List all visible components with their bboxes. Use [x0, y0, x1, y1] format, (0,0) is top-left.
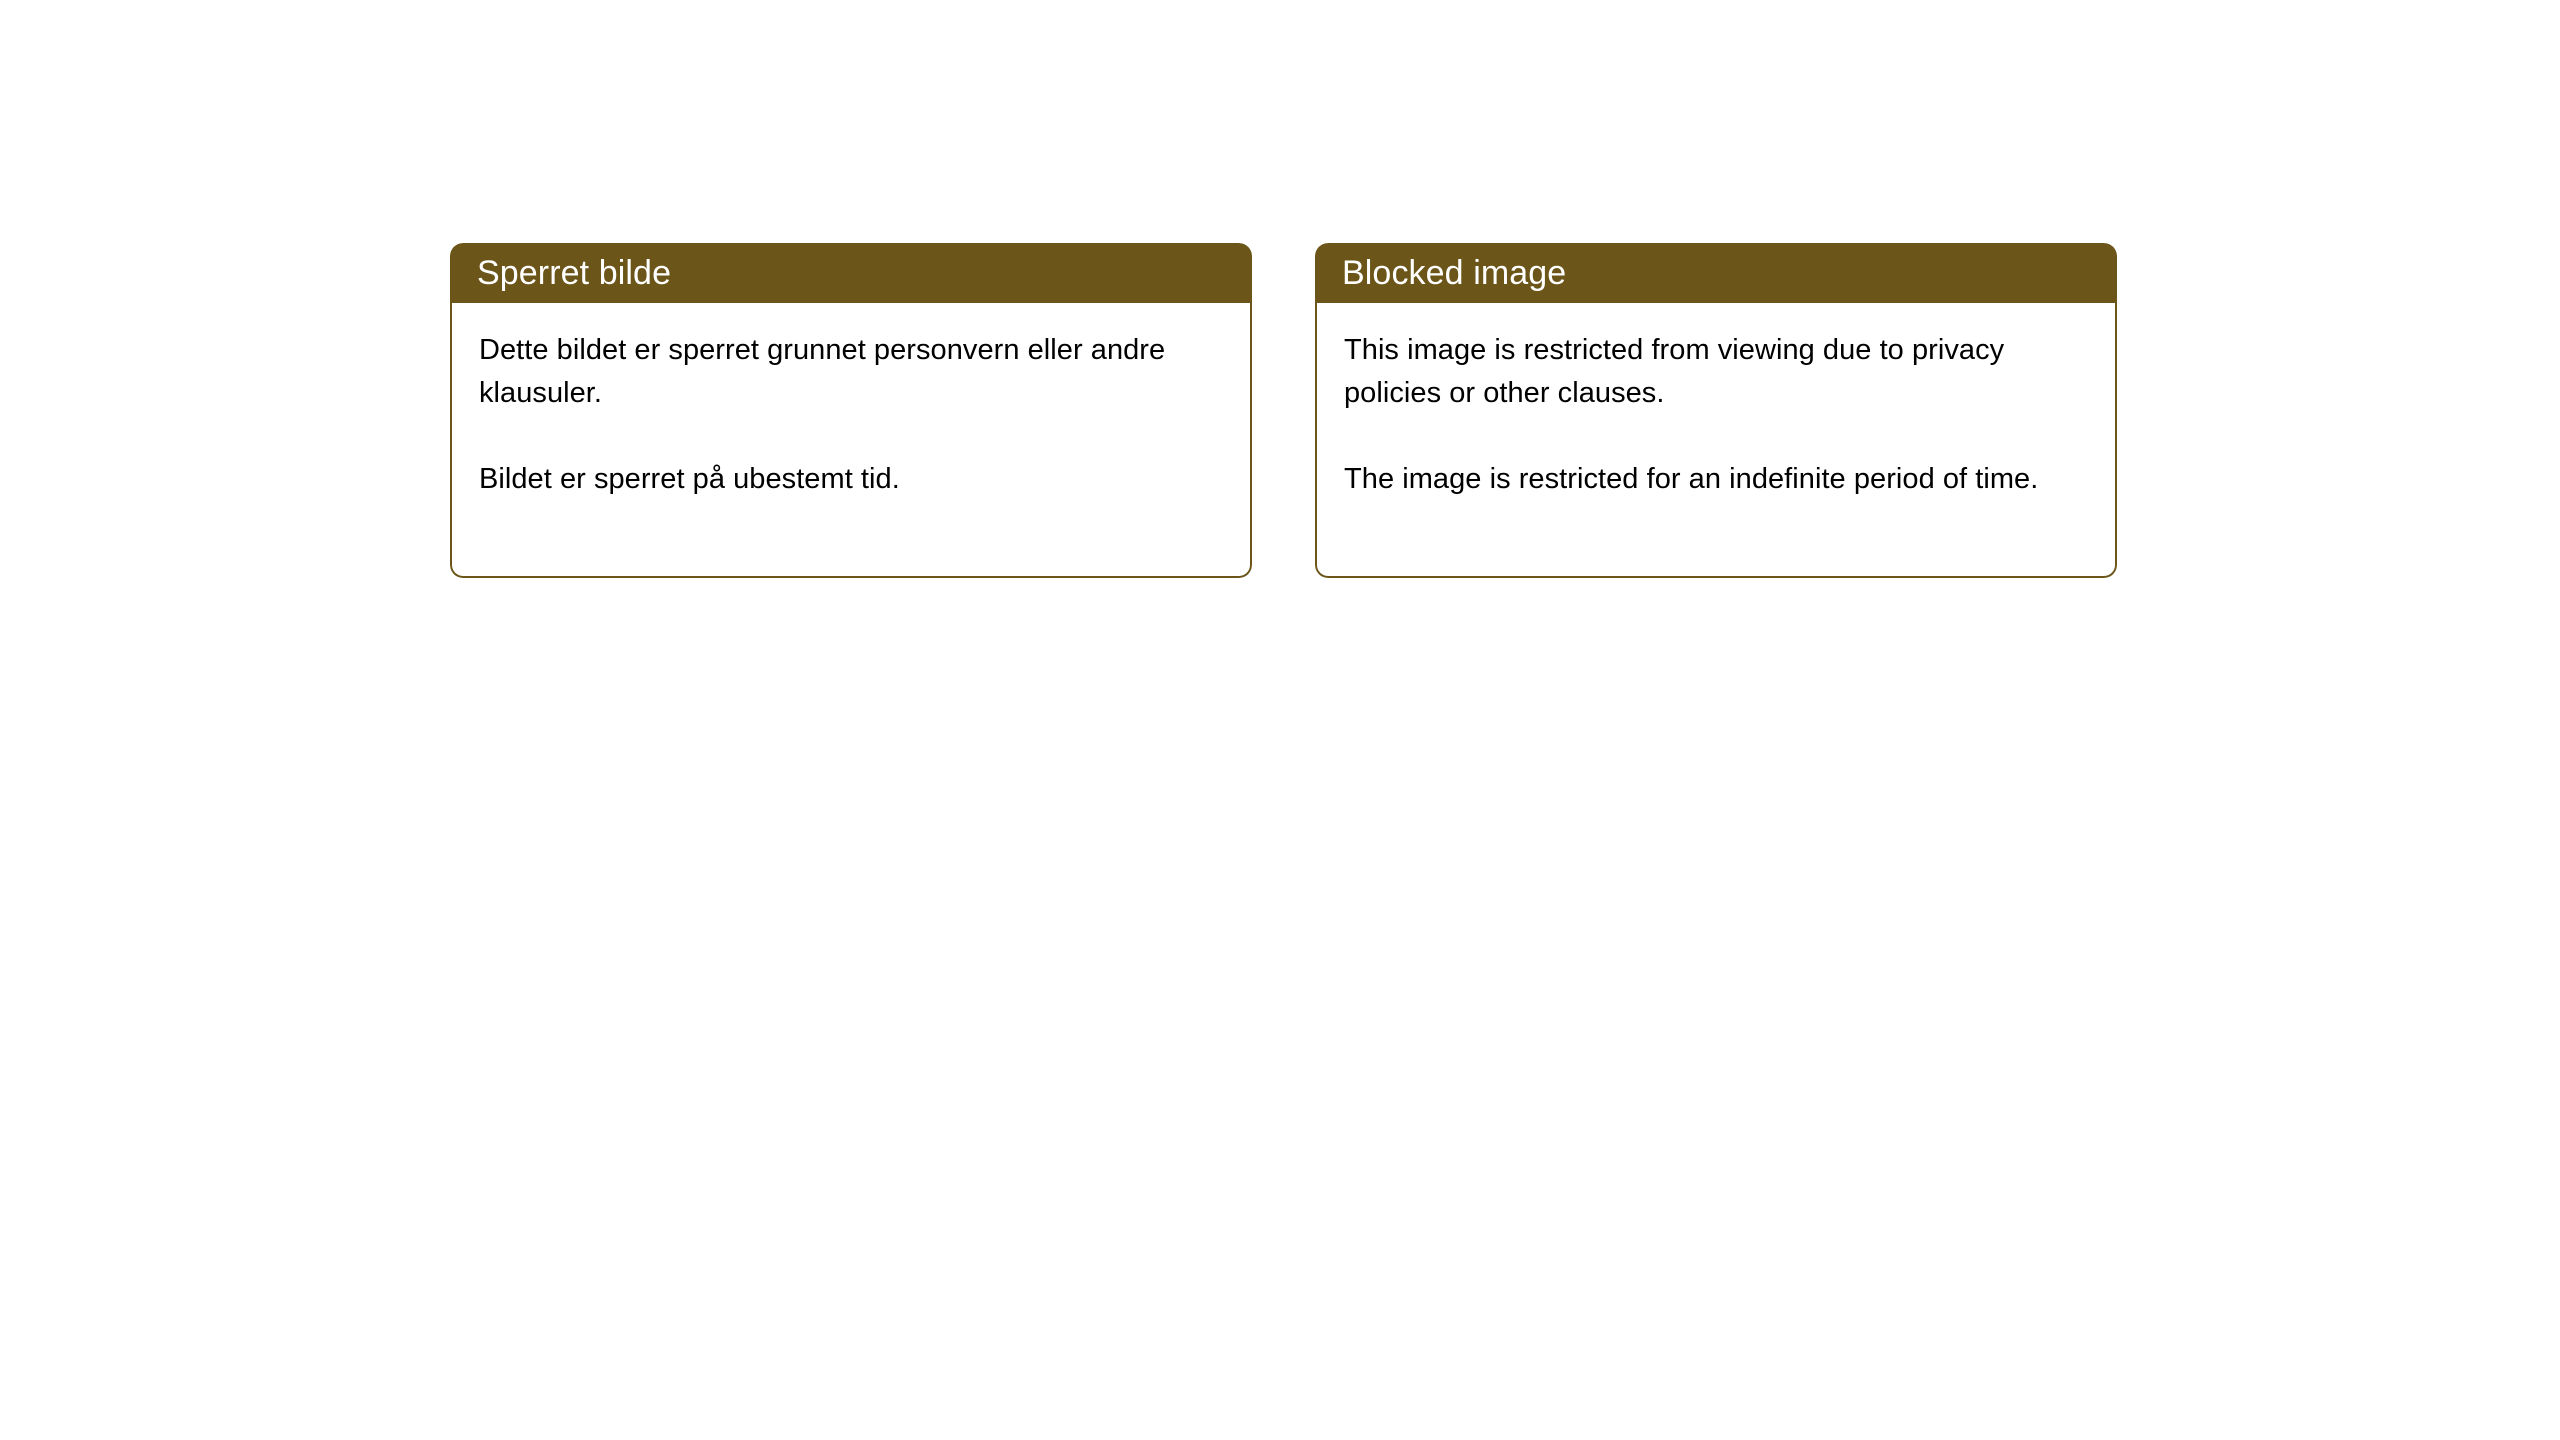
card-body-norwegian: Dette bildet er sperret grunnet personve… — [450, 303, 1252, 578]
blocked-image-card-norwegian: Sperret bilde Dette bildet er sperret gr… — [450, 243, 1252, 578]
card-paragraph-duration-norwegian: Bildet er sperret på ubestemt tid. — [479, 458, 1224, 501]
card-title-norwegian: Sperret bilde — [477, 256, 671, 290]
card-paragraph-duration-english: The image is restricted for an indefinit… — [1344, 458, 2089, 501]
card-header-norwegian: Sperret bilde — [450, 243, 1252, 303]
card-paragraph-privacy-english: This image is restricted from viewing du… — [1344, 329, 2089, 415]
card-title-english: Blocked image — [1342, 256, 1566, 290]
card-header-english: Blocked image — [1315, 243, 2117, 303]
card-paragraph-privacy-norwegian: Dette bildet er sperret grunnet personve… — [479, 329, 1224, 415]
card-body-english: This image is restricted from viewing du… — [1315, 303, 2117, 578]
blocked-image-card-english: Blocked image This image is restricted f… — [1315, 243, 2117, 578]
